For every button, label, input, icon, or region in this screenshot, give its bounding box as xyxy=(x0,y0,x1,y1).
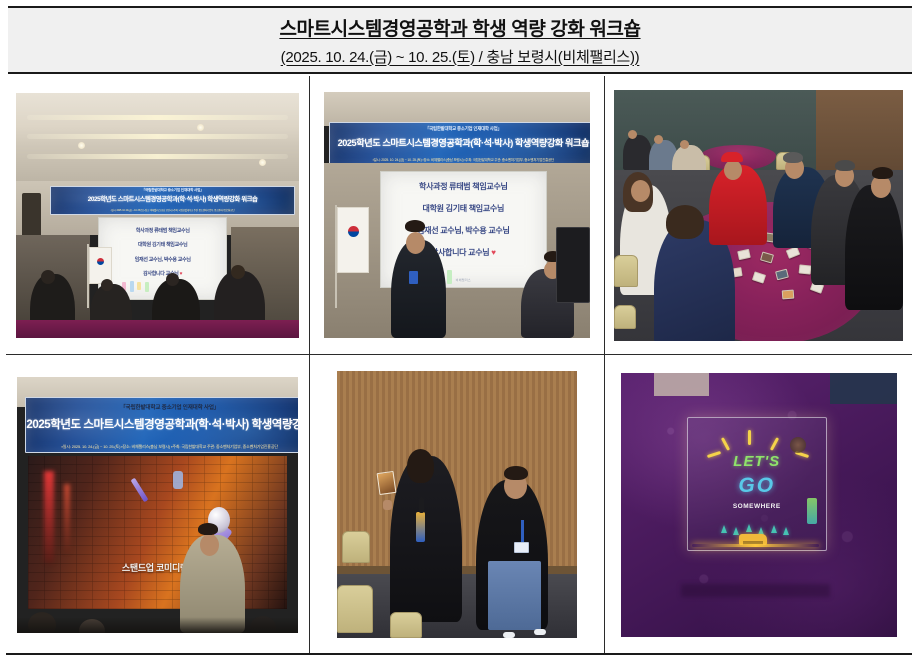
lamp-text-line-2: GO xyxy=(688,474,826,498)
heart-icon: ♥ xyxy=(179,271,183,277)
lamp-text-line-1: LET'S xyxy=(688,453,826,470)
name-badge xyxy=(514,542,529,553)
comedy-slide-screen: 스탠드업 코미디란? xyxy=(28,456,287,610)
report-header: 스마트시스템경영공학과 학생 역량 강화 워크숍 (2025. 10. 24.(… xyxy=(8,6,912,74)
speaker-figure xyxy=(391,240,447,338)
banner-photo-4: 「국립한밭대학교 중소기업 인재대학 사업」 2025학년도 스마트시스템경영공… xyxy=(25,397,298,453)
page-subtitle: (2025. 10. 24.(금) ~ 10. 25.(토) / 충남 보령시(… xyxy=(281,46,640,67)
banner-top-line: 「국립한밭대학교 중소기업 인재대학 사업」 xyxy=(51,188,294,193)
comedy-caption: 스탠드업 코미디란? xyxy=(28,561,287,574)
photo-cell-1: 「국립한밭대학교 중소기업 인재대학 사업」 2025학년도 스마트시스템경영공… xyxy=(6,76,310,355)
banner-main-line: 2025학년도 스마트시스템경영공학과(학·석·박사) 학생역량강화 워크숍 xyxy=(26,416,298,432)
photo-cell-5 xyxy=(310,355,605,654)
slide-line-1: 학사과정 류태범 책임교수님 xyxy=(99,227,226,234)
slide-line-2: 대학원 김기태 책임교수님 xyxy=(99,241,226,248)
photo-cell-2: 「국립한밭대학교 중소기업 인재대학 사업」 2025학년도 스마트시스템경영공… xyxy=(310,76,605,355)
slide-line-2: 대학원 김기태 책임교수님 xyxy=(381,203,546,214)
acrylic-led-plate: LET'S GO SOMEWHERE xyxy=(687,417,827,551)
photo-3 xyxy=(614,90,903,341)
photo-1: 「국립한밭대학교 중소기업 인재대학 사업」 2025학년도 스마트시스템경영공… xyxy=(16,93,299,338)
banner-top-line: 「국립한밭대학교 중소기업 인재대학 사업」 xyxy=(330,126,590,132)
photo-6: LET'S GO SOMEWHERE xyxy=(621,373,897,637)
photo-cell-6: LET'S GO SOMEWHERE xyxy=(605,355,912,654)
photo-cell-4: 「국립한밭대학교 중소기업 인재대학 사업」 2025학년도 스마트시스템경영공… xyxy=(6,355,310,654)
banner-main-line: 2025학년도 스마트시스템경영공학과(학·석·박사) 학생역량강화 워크숍 xyxy=(330,135,590,149)
photo-4: 「국립한밭대학교 중소기업 인재대학 사업」 2025학년도 스마트시스템경영공… xyxy=(17,377,298,633)
photo-cell-3 xyxy=(605,76,912,355)
heart-icon: ♥ xyxy=(489,248,495,257)
scarf xyxy=(416,512,425,542)
slide-line-1: 학사과정 류태범 책임교수님 xyxy=(381,181,546,192)
held-card xyxy=(376,471,396,495)
banner-sub-line: ▪일시: 2025. 10. 24.(금) ~ 10. 25.(토) ▪장소: … xyxy=(51,208,294,212)
banner-sub-line: ▪일시: 2025. 10. 24.(금) ~ 10. 25.(토) ▪장소: … xyxy=(26,444,298,450)
workshop-photo-report-page: 스마트시스템경영공학과 학생 역량 강화 워크숍 (2025. 10. 24.(… xyxy=(0,0,920,661)
banner-photo-1: 「국립한밭대학교 중소기업 인재대학 사업」 2025학년도 스마트시스템경영공… xyxy=(50,186,295,215)
slide-line-4: 감사합니다 교수님 ♥ xyxy=(99,270,226,277)
photo-grid: 「국립한밭대학교 중소기업 인재대학 사업」 2025학년도 스마트시스템경영공… xyxy=(6,76,912,654)
banner-photo-2: 「국립한밭대학교 중소기업 인재대학 사업」 2025학년도 스마트시스템경영공… xyxy=(329,122,590,166)
participant-figure xyxy=(845,185,903,311)
korean-flag-icon xyxy=(335,205,370,308)
slide-line-3: 임재선 교수님, 박수용 교수님 xyxy=(99,256,226,263)
banner-top-line: 「국립한밭대학교 중소기업 인재대학 사업」 xyxy=(26,403,298,411)
banner-main-line: 2025학년도 스마트시스템경영공학과(학·석·박사) 학생역량강화 워크숍 xyxy=(51,194,294,203)
banner-sub-line: ▪일시: 2025. 10. 24.(금) ~ 10. 25.(토) ▪장소: … xyxy=(330,157,590,162)
lamp-text-line-3: SOMEWHERE xyxy=(688,503,826,510)
page-title: 스마트시스템경영공학과 학생 역량 강화 워크숍 xyxy=(279,14,640,41)
microphone-icon xyxy=(419,497,424,513)
red-cap-icon xyxy=(721,152,743,162)
photo-5 xyxy=(337,371,577,638)
photo-2: 「국립한밭대학교 중소기업 인재대학 사업」 2025학년도 스마트시스템경영공… xyxy=(324,92,590,338)
